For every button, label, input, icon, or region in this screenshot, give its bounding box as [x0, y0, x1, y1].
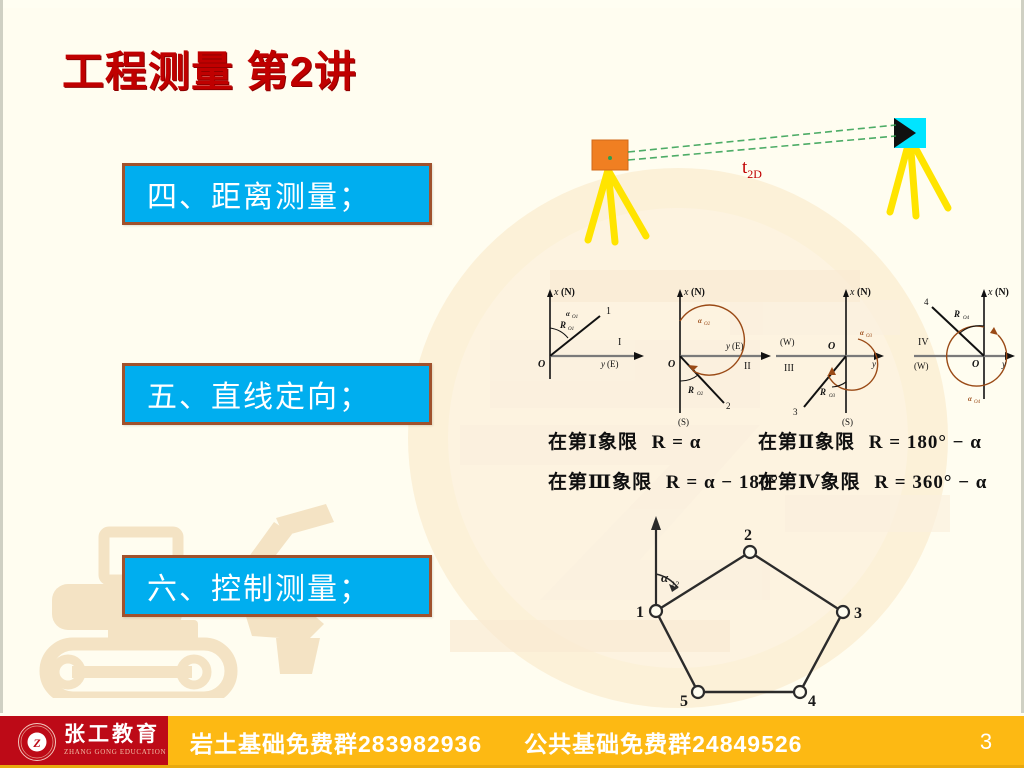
formula-expression: R = 180° − α [869, 432, 982, 453]
formula-prefix: 在第Ⅱ象限 [758, 432, 855, 453]
outline-item-line-orientation[interactable]: 五、直线定向； [122, 363, 432, 425]
edm-instrument-icon [894, 118, 926, 148]
svg-text:(W): (W) [780, 337, 795, 347]
svg-text:(E): (E) [607, 359, 619, 369]
left-edge-line [0, 0, 3, 713]
station-label-4: 4 [808, 693, 816, 710]
quadrant-4-diagram: x (N) y O 4 R O4 α O4 IV (W) [914, 287, 1015, 405]
svg-text:O1: O1 [572, 315, 578, 320]
brand-name-en: ZHANG GONG EDUCATION [64, 747, 166, 757]
svg-text:y: y [600, 359, 605, 369]
formula-expression: R = 360° − α [874, 472, 987, 493]
quadrant-formula-block: 在第Ⅰ象限 R = α 在第Ⅱ象限 R = 180° − α 在第Ⅲ象限 R =… [548, 427, 1018, 507]
edm-time-subscript: 2D [747, 167, 762, 181]
svg-text:O4: O4 [963, 316, 970, 321]
svg-text:I: I [618, 337, 621, 348]
outline-item-distance-measurement[interactable]: 四、距离测量； [122, 163, 432, 225]
formula-text: 在第Ⅱ象限 R = 180° − α [758, 427, 982, 454]
svg-text:O4: O4 [974, 400, 981, 405]
svg-text:R: R [559, 320, 566, 330]
brand-name-cn: 张工教育 [64, 723, 166, 745]
slide-canvas: 工程测量 第2讲 四、距离测量； 五、直线定向； 六、控制测量； [0, 0, 1024, 768]
svg-text:II: II [744, 361, 751, 372]
svg-text:(S): (S) [842, 417, 853, 427]
station-node [744, 546, 756, 558]
svg-text:(N): (N) [857, 287, 871, 298]
formula-row: 在第Ⅲ象限 R = α − 180° 在第Ⅳ象限 R = 360° − α [548, 467, 1018, 494]
formula-text: 在第Ⅲ象限 R = α − 180° [548, 467, 758, 494]
svg-text:O: O [828, 341, 835, 352]
svg-text:O2: O2 [704, 322, 711, 327]
edm-time-label: t2D [742, 157, 762, 182]
tripod-right-icon [890, 138, 948, 216]
svg-text:2: 2 [726, 401, 731, 411]
svg-text:O1: O1 [568, 327, 574, 332]
svg-text:x: x [683, 287, 689, 298]
traverse-polygon-figure: 1 2 3 4 5 α 12 [600, 512, 890, 717]
station-label-3: 3 [854, 605, 862, 622]
formula-prefix: 在第Ⅲ象限 [548, 472, 652, 493]
svg-text:IV: IV [918, 337, 929, 348]
prism-target-icon [592, 140, 628, 170]
top-edge-stripe [0, 0, 1024, 8]
svg-text:O3: O3 [829, 394, 836, 399]
svg-text:(E): (E) [732, 341, 744, 351]
quadrant-1-diagram: x (N) y (E) O 1 α O1 R O1 I [538, 287, 644, 379]
svg-text:(S): (S) [678, 417, 689, 427]
angle-subscript: 12 [671, 580, 679, 589]
svg-text:O: O [668, 359, 675, 370]
station-node [650, 605, 662, 617]
svg-text:R: R [819, 387, 826, 397]
formula-text: 在第Ⅳ象限 R = 360° − α [758, 467, 987, 494]
svg-text:3: 3 [793, 407, 798, 417]
svg-text:III: III [784, 363, 794, 374]
svg-text:α: α [698, 317, 702, 325]
station-node [837, 606, 849, 618]
svg-text:4: 4 [924, 297, 929, 307]
seal-logo-icon: Z [17, 722, 57, 762]
svg-text:α: α [566, 310, 570, 318]
svg-text:y: y [1001, 359, 1006, 369]
page-title: 工程测量 第2讲 [62, 38, 357, 99]
banner-groups: 岩土基础免费群283982936 公共基础免费群24849526 [168, 716, 948, 768]
svg-text:(N): (N) [995, 287, 1009, 298]
svg-text:1: 1 [606, 306, 611, 317]
formula-text: 在第Ⅰ象限 R = α [548, 427, 758, 454]
angle-label: α [661, 570, 669, 585]
page-number: 3 [948, 716, 1024, 768]
svg-text:O2: O2 [697, 392, 704, 397]
tripod-left-icon [588, 170, 646, 242]
station-label-5: 5 [680, 693, 688, 710]
station-node [692, 686, 704, 698]
outline-item-control-survey[interactable]: 六、控制测量； [122, 555, 432, 617]
svg-text:R: R [953, 309, 960, 319]
quadrant-2-diagram: x (N) y (E) O 2 α O2 R O2 II (S) [668, 287, 771, 427]
svg-text:α: α [968, 395, 972, 403]
svg-text:α: α [860, 329, 864, 337]
svg-text:O: O [972, 359, 979, 370]
formula-prefix: 在第Ⅰ象限 [548, 432, 638, 453]
svg-text:x: x [553, 287, 559, 298]
svg-text:R: R [687, 385, 694, 395]
svg-text:O: O [538, 359, 545, 370]
station-label-1: 1 [636, 604, 644, 621]
svg-text:x: x [987, 287, 993, 298]
svg-text:y: y [725, 341, 730, 351]
outline-item-label: 五、直线定向； [125, 372, 371, 416]
edm-distance-diagram [560, 108, 980, 268]
formula-expression: R = α [652, 432, 702, 453]
bottom-banner: Z 张工教育 ZHANG GONG EDUCATION 岩土基础免费群28398… [0, 716, 1024, 768]
qq-group-geotech[interactable]: 岩土基础免费群283982936 [190, 725, 482, 759]
brand-logo[interactable]: Z 张工教育 ZHANG GONG EDUCATION [0, 716, 168, 768]
quadrant-3-diagram: x (N) y O 3 α O3 R O3 (W) III (S) [776, 287, 884, 427]
outline-item-label: 四、距离测量； [125, 172, 371, 216]
svg-text:Z: Z [32, 736, 41, 750]
quadrant-azimuth-figure: x (N) y (E) O 1 α O1 R O1 I [528, 283, 1024, 428]
svg-text:y: y [871, 359, 876, 369]
svg-text:(W): (W) [914, 361, 929, 371]
svg-text:(N): (N) [561, 287, 575, 298]
svg-text:(N): (N) [691, 287, 705, 298]
formula-row: 在第Ⅰ象限 R = α 在第Ⅱ象限 R = 180° − α [548, 427, 1018, 454]
formula-prefix: 在第Ⅳ象限 [758, 472, 861, 493]
station-label-2: 2 [744, 527, 752, 544]
svg-text:x: x [849, 287, 855, 298]
svg-text:O3: O3 [866, 334, 873, 339]
station-node [794, 686, 806, 698]
outline-item-label: 六、控制测量； [125, 564, 371, 608]
qq-group-public[interactable]: 公共基础免费群24849526 [524, 725, 802, 759]
laser-beam-icon [628, 125, 896, 160]
